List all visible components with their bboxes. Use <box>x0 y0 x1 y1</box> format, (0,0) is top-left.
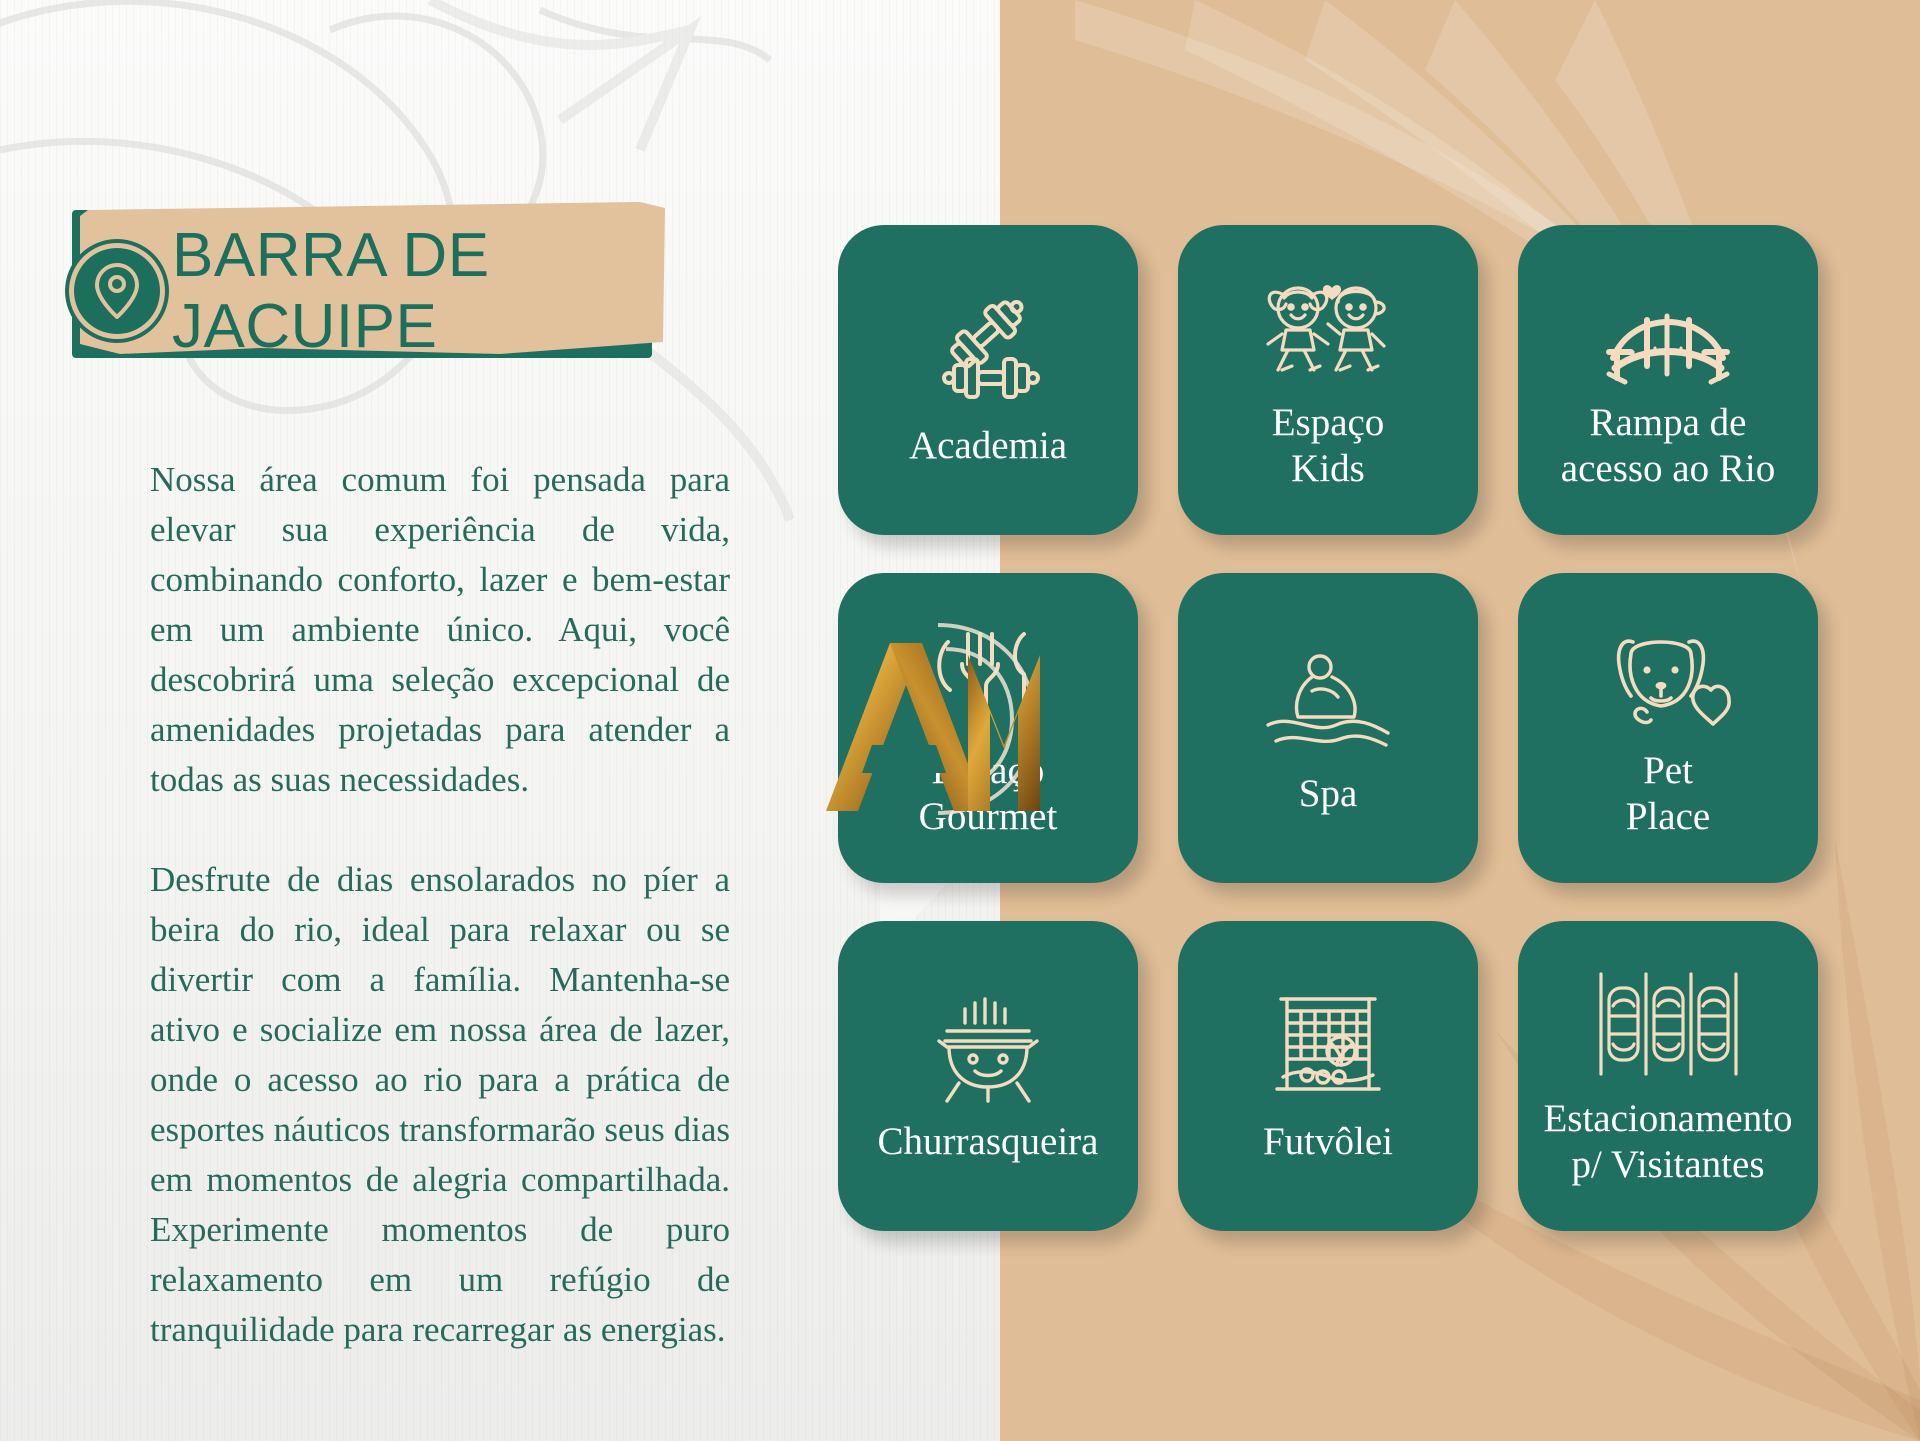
amenity-card-churrasqueira[interactable]: Churrasqueira <box>838 921 1138 1231</box>
dog-icon <box>1603 616 1733 734</box>
amenity-label: Espaço Kids <box>1272 400 1385 492</box>
amenity-card-futvolei[interactable]: Futvôlei <box>1178 921 1478 1231</box>
cutlery-icon <box>928 616 1048 734</box>
amenity-label: Espaço Gourmet <box>919 748 1058 840</box>
location-badge: BARRA DE JACUIPE <box>52 196 662 364</box>
amenity-card-estacionamento[interactable]: Estacionamento p/ Visitantes <box>1518 921 1818 1231</box>
amenities-grid: Academia <box>838 225 1868 1240</box>
dumbbell-icon <box>928 291 1048 409</box>
grill-icon <box>923 987 1053 1105</box>
amenity-card-espaco-gourmet[interactable]: Espaço Gourmet <box>838 573 1138 883</box>
paragraph-1: Nossa área comum foi pensada para elevar… <box>150 455 730 805</box>
volleyball-net-icon <box>1263 987 1393 1105</box>
bridge-icon <box>1603 268 1733 386</box>
amenity-card-espaco-kids[interactable]: Espaço Kids <box>1178 225 1478 535</box>
kids-icon <box>1258 268 1398 386</box>
amenity-card-spa[interactable]: Spa <box>1178 573 1478 883</box>
amenity-label: Spa <box>1299 771 1358 817</box>
amenity-label: Churrasqueira <box>878 1119 1099 1165</box>
amenity-card-academia[interactable]: Academia <box>838 225 1138 535</box>
amenity-card-pet-place[interactable]: Pet Place <box>1518 573 1818 883</box>
brochure-page: BARRA DE JACUIPE Nossa área comum foi pe… <box>0 0 1920 1441</box>
paragraph-2: Desfrute de dias ensolarados no píer a b… <box>150 855 730 1355</box>
massage-icon <box>1258 639 1398 757</box>
amenity-label: Futvôlei <box>1263 1119 1393 1165</box>
amenity-label: Rampa de acesso ao Rio <box>1561 400 1775 492</box>
pin-glyph <box>94 263 140 319</box>
amenity-label: Pet Place <box>1626 748 1710 840</box>
parking-cars-icon <box>1593 964 1743 1082</box>
page-title: BARRA DE JACUIPE <box>172 248 672 334</box>
location-pin-icon <box>74 248 160 334</box>
amenity-card-rampa-rio[interactable]: Rampa de acesso ao Rio <box>1518 225 1818 535</box>
amenity-label: Academia <box>909 423 1067 469</box>
description-text: Nossa área comum foi pensada para elevar… <box>150 455 730 1355</box>
amenity-label: Estacionamento p/ Visitantes <box>1543 1096 1792 1188</box>
